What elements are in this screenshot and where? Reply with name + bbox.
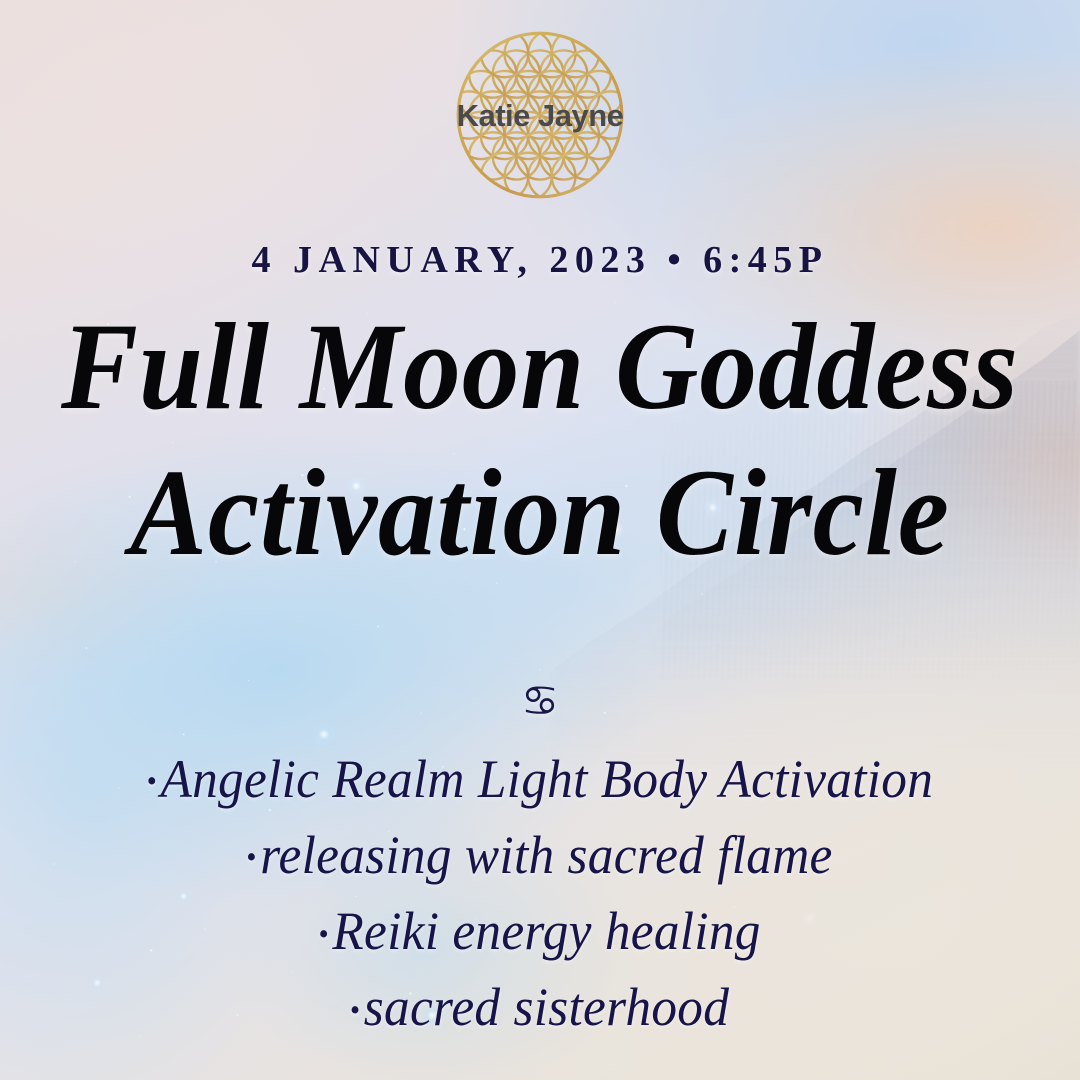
brand-name-text: Katie Jayne — [457, 98, 624, 134]
event-offerings-list: •Angelic Realm Light Body Activation •re… — [0, 744, 1080, 1043]
list-item-label: Angelic Realm Light Body Activation — [161, 749, 934, 809]
brand-logo: Katie Jayne — [447, 22, 633, 208]
bullet-marker-icon: • — [247, 840, 261, 874]
event-date-time: 4 JANUARY, 2023 • 6:45P — [252, 238, 829, 282]
event-title-line-2: Activation Circle — [61, 440, 1019, 586]
poster-content: Katie Jayne 4 JANUARY, 2023 • 6:45P Full… — [0, 0, 1080, 1080]
event-title-line-1: Full Moon Goddess — [61, 294, 1019, 440]
cancer-zodiac-symbol-icon: ♋ — [521, 680, 559, 722]
list-item: •sacred sisterhood — [350, 972, 729, 1042]
event-flyer-poster: Katie Jayne 4 JANUARY, 2023 • 6:45P Full… — [0, 0, 1080, 1080]
list-item-label: Reiki energy healing — [333, 901, 761, 961]
list-item: •Angelic Realm Light Body Activation — [147, 744, 933, 814]
bullet-marker-icon: • — [350, 993, 364, 1027]
list-item: •Reiki energy healing — [319, 896, 761, 966]
bullet-marker-icon: • — [319, 917, 333, 951]
list-item-label: releasing with sacred flame — [261, 825, 833, 885]
list-item-label: sacred sisterhood — [364, 977, 729, 1037]
event-title: Full Moon Goddess Activation Circle — [61, 294, 1019, 587]
bullet-marker-icon: • — [147, 764, 161, 798]
list-item: •releasing with sacred flame — [247, 820, 833, 890]
